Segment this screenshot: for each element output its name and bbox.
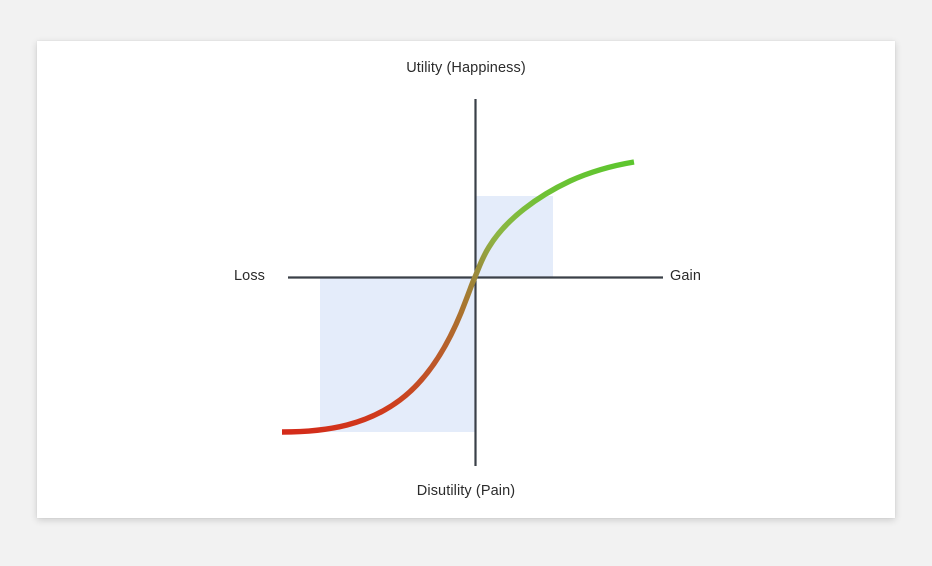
gain-reference-box	[475, 196, 553, 277]
x-axis-right-label: Gain	[670, 268, 701, 284]
x-axis-left-label: Loss	[234, 268, 265, 284]
loss-reference-box	[320, 277, 475, 432]
y-axis-top-label: Utility (Happiness)	[0, 60, 932, 76]
prospect-theory-chart	[0, 0, 932, 566]
y-axis-bottom-label: Disutility (Pain)	[0, 483, 932, 499]
